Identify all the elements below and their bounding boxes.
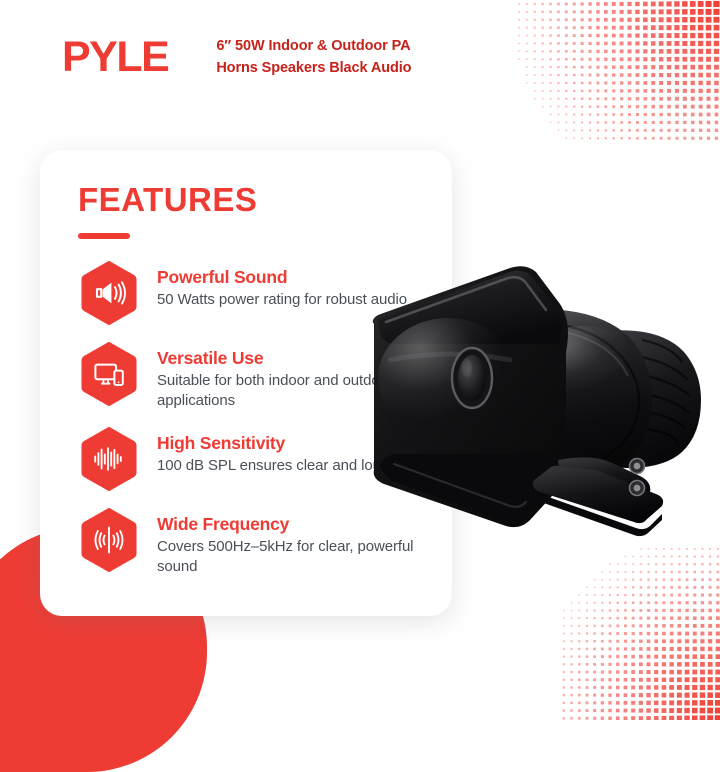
- brand-logo: PYLE: [62, 36, 168, 79]
- speaker-mounting-bracket: [532, 457, 664, 536]
- megaphone-icon: [78, 259, 140, 327]
- halftone-pattern-top-right: [515, 0, 720, 140]
- sound-waves-icon: [78, 506, 140, 574]
- waveform-icon: [78, 425, 140, 493]
- monitor-phone-icon: [78, 340, 140, 408]
- speaker-center-plug: [452, 348, 492, 408]
- page-title: 6″ 50W Indoor & Outdoor PA Horns Speaker…: [216, 36, 446, 78]
- heading-underline: [78, 233, 130, 239]
- header: PYLE 6″ 50W Indoor & Outdoor PA Horns Sp…: [62, 36, 446, 79]
- features-heading: FEATURES: [78, 183, 452, 216]
- halftone-pattern-bottom-right: [560, 545, 720, 720]
- product-image: [360, 248, 708, 548]
